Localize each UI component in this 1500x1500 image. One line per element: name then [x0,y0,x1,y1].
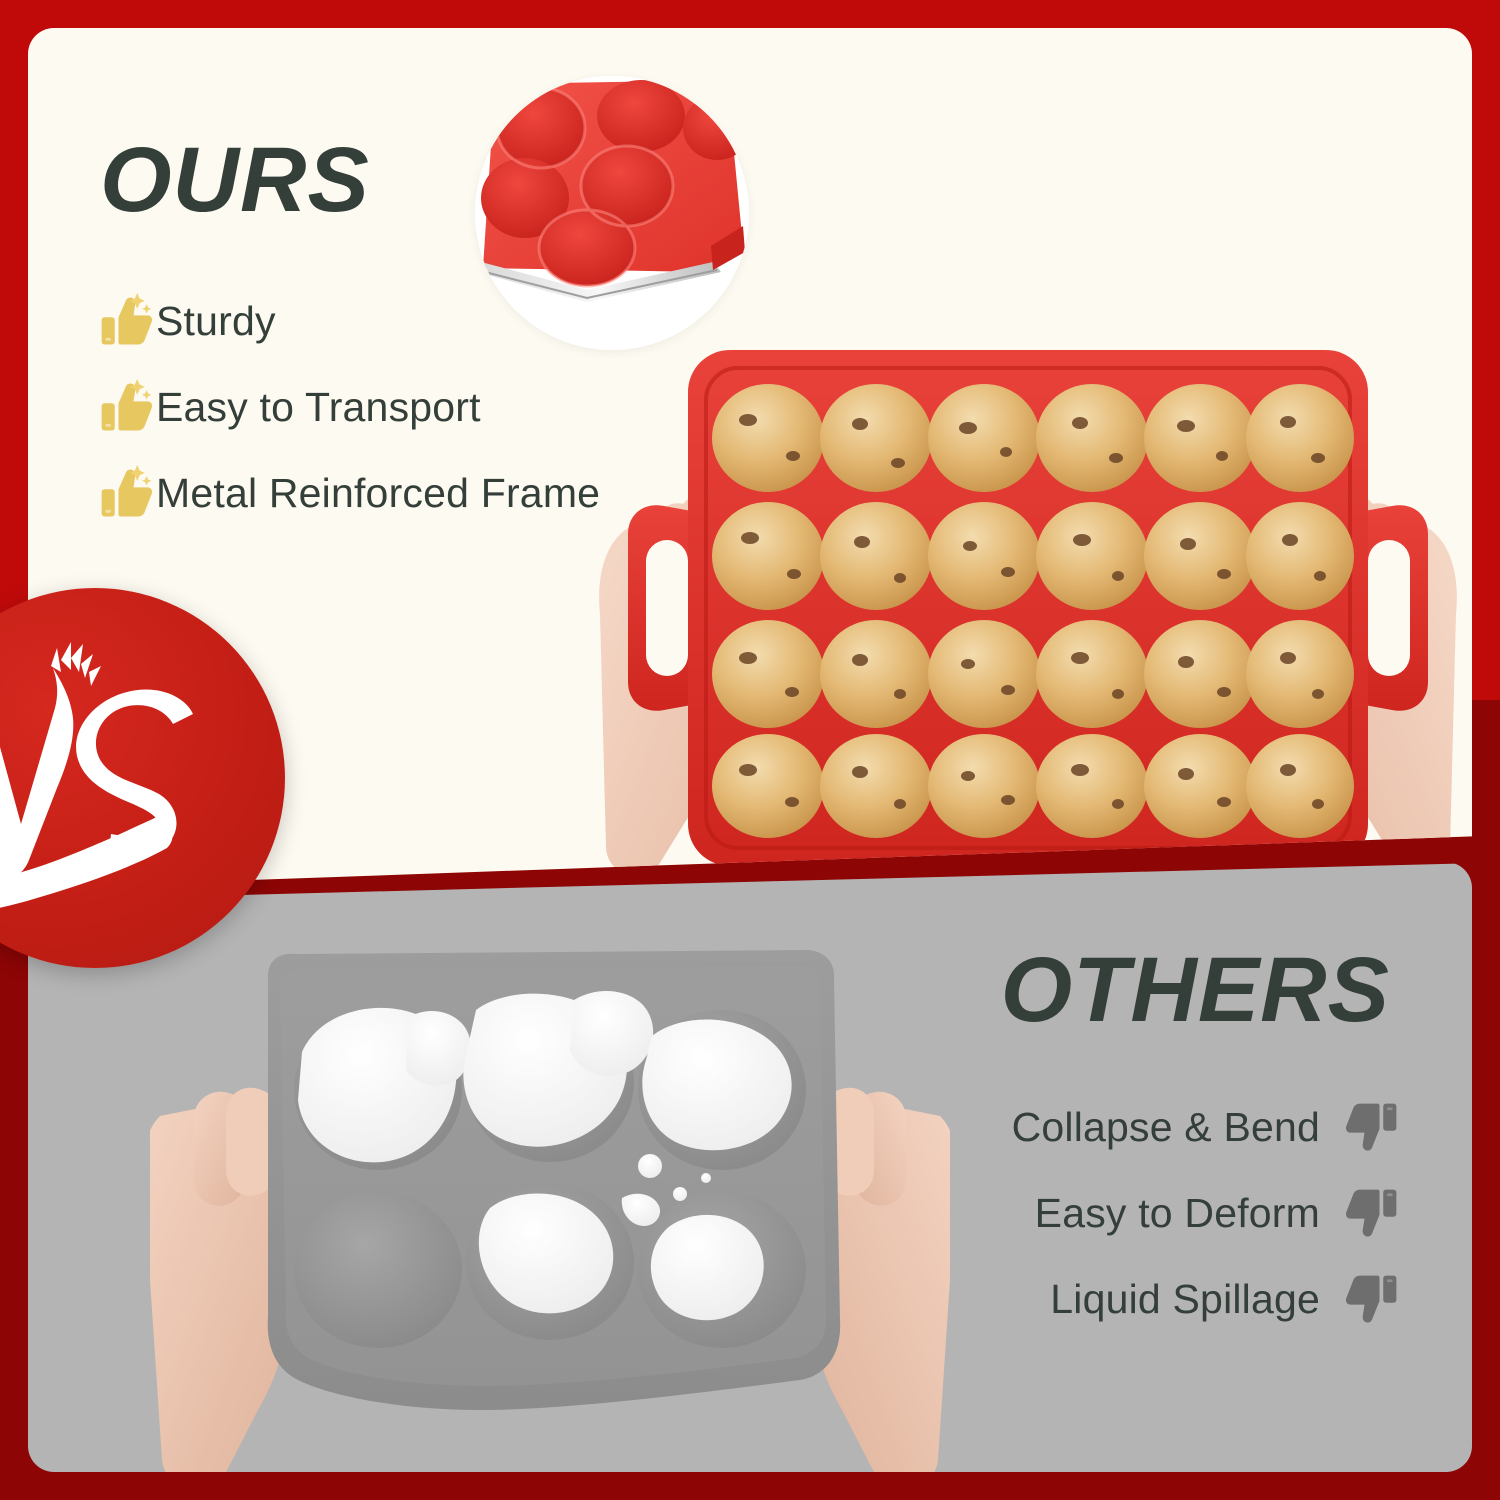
vs-badge [0,588,285,968]
others-product-photo [150,940,950,1472]
thumbs-down-icon [1342,1183,1402,1243]
ours-feature-list: Sturdy Eas [96,278,600,536]
ours-feature-row: Easy to Transport [96,364,600,450]
thumbs-up-sparkle-icon [96,377,156,437]
others-feature-label: Liquid Spillage [1050,1276,1320,1323]
left-hand [150,1088,287,1472]
others-feature-row: Liquid Spillage [1012,1256,1402,1342]
thumbs-up-sparkle-icon [96,291,156,351]
ours-feature-row: Sturdy [96,278,600,364]
ours-feature-label: Metal Reinforced Frame [156,470,600,517]
ours-feature-label: Sturdy [156,298,276,345]
others-feature-list: Collapse & Bend Easy to Deform [1012,1084,1402,1342]
ours-title: OURS [100,134,370,226]
vs-brush-icon [0,588,285,968]
ours-product-photo [588,328,1468,888]
comparison-infographic: OURS S [0,0,1500,1500]
others-feature-row: Easy to Deform [1012,1170,1402,1256]
thumbs-up-sparkle-icon [96,463,156,523]
ours-feature-label: Easy to Transport [156,384,481,431]
others-feature-row: Collapse & Bend [1012,1084,1402,1170]
others-feature-label: Collapse & Bend [1012,1104,1320,1151]
ours-feature-row: Metal Reinforced Frame [96,450,600,536]
others-feature-label: Easy to Deform [1035,1190,1320,1237]
others-title: OTHERS [1001,944,1390,1036]
thumbs-down-icon [1342,1269,1402,1329]
thumbs-down-icon [1342,1097,1402,1157]
